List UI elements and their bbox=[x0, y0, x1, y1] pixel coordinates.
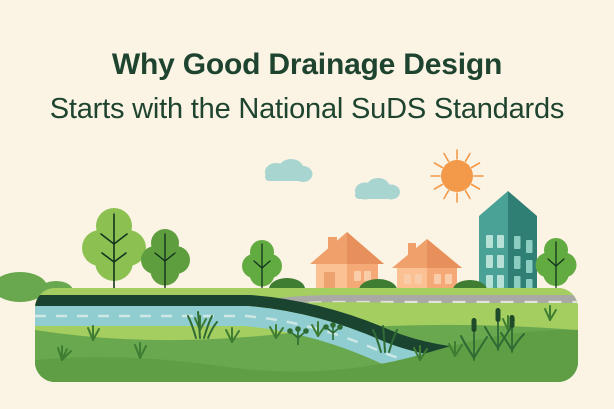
sun-icon bbox=[431, 150, 483, 202]
sky-group bbox=[265, 150, 483, 202]
cloud-right bbox=[355, 178, 400, 200]
tree-tall-left bbox=[82, 208, 146, 292]
apartment-block bbox=[479, 191, 537, 294]
buildings-group bbox=[310, 191, 537, 294]
tree-right bbox=[536, 238, 577, 292]
poster-canvas: Why Good Drainage Design Starts with the… bbox=[0, 0, 614, 409]
cloud-left bbox=[265, 159, 313, 182]
house-right bbox=[392, 239, 462, 294]
illustration bbox=[0, 0, 614, 409]
landscape-block bbox=[35, 288, 578, 388]
tree-left-small bbox=[141, 229, 190, 292]
